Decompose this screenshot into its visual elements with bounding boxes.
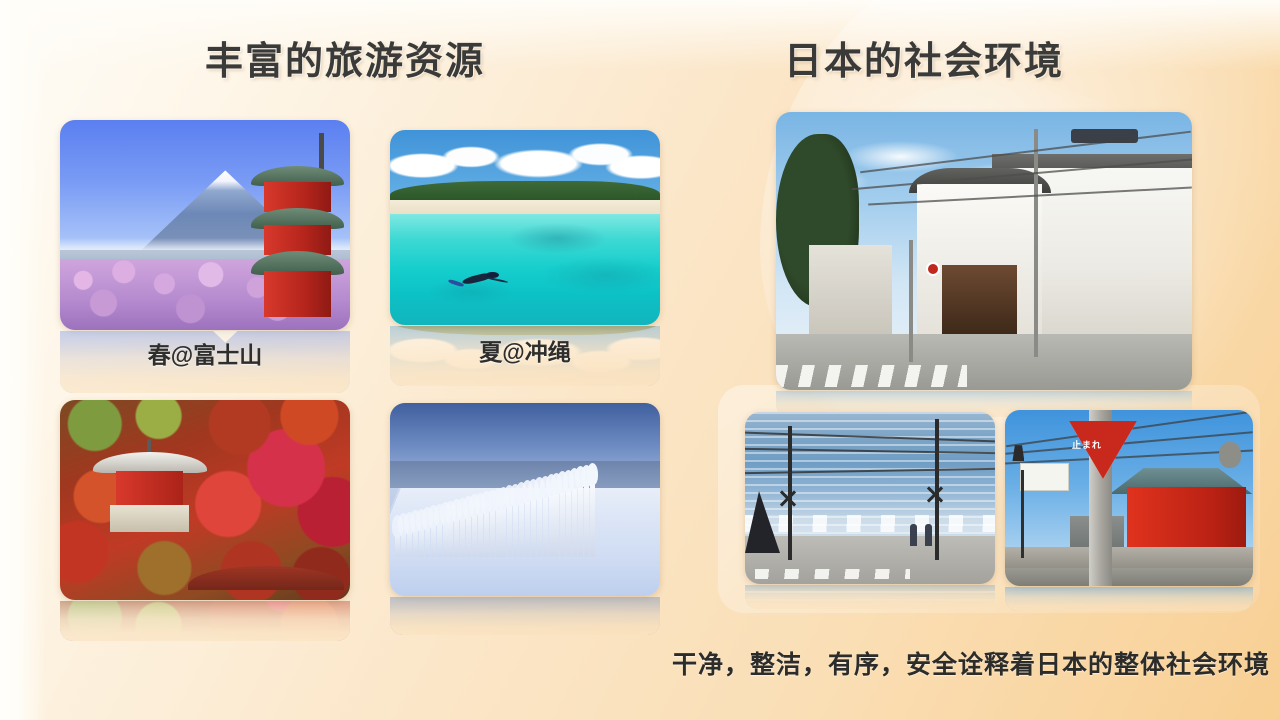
pedestrian-figure-2 (925, 524, 932, 546)
photo-spring-fuji (60, 120, 350, 330)
photo-summer-okinawa (390, 130, 660, 325)
railway-crossing-sign-icon-2 (925, 484, 945, 504)
photo-caption-spring: 春@富士山 (60, 336, 350, 370)
photo-card-autumn[interactable]: 秋@京都 (60, 400, 350, 641)
temple-pavilion-icon (101, 452, 200, 532)
pagoda-icon (251, 133, 344, 318)
photo-autumn-kyoto (60, 400, 350, 600)
stop-sign-label: 止まれ (1055, 438, 1119, 451)
photo-card-street[interactable] (776, 112, 1192, 417)
right-section-caption: 干净，整洁，有序，安全诠释着日本的整体社会环境 (672, 645, 1270, 681)
railway-crossing-sign-icon (778, 488, 798, 508)
scene-hokkaido-winter (390, 403, 660, 596)
photo-winter-hokkaido (390, 403, 660, 596)
photo-seaside-crossing (745, 412, 995, 584)
photo-reflection-stop (1005, 587, 1253, 611)
scene-okinawa-beach (390, 130, 660, 325)
photo-japanese-street (776, 112, 1192, 390)
photo-card-stop-sign[interactable]: 止まれ (1005, 410, 1253, 611)
traffic-light-icon (1071, 129, 1138, 143)
scene-japanese-street (776, 112, 1192, 390)
scene-kyoto-autumn (60, 400, 350, 600)
photo-reflection-autumn (60, 601, 350, 641)
no-entry-sign-icon (926, 262, 940, 276)
photo-reflection-winter (390, 597, 660, 635)
photo-card-winter[interactable]: 冬@北海道 (390, 403, 660, 635)
pedestrian-figure (910, 524, 917, 546)
scene-seaside-railway-crossing (745, 412, 995, 584)
white-notice-sign (1020, 463, 1070, 491)
photo-stop-sign-red-building: 止まれ (1005, 410, 1253, 586)
birch-trees (390, 469, 660, 558)
background-left-wash (0, 0, 46, 720)
photo-caption-summer: 夏@冲绳 (390, 333, 660, 367)
right-section-title: 日本的社会环境 (784, 30, 1064, 85)
scene-mount-fuji (60, 120, 350, 330)
photo-card-sea-crossing[interactable] (745, 412, 995, 609)
left-section-title: 丰富的旅游资源 (205, 30, 485, 85)
photo-card-spring[interactable]: 春@富士山 (60, 120, 350, 393)
round-sign-icon (1219, 442, 1241, 468)
slide-canvas: 丰富的旅游资源 日本的社会环境 (0, 0, 1280, 720)
scene-stop-sign-corner: 止まれ (1005, 410, 1253, 586)
snorkeler-icon (455, 270, 504, 290)
photo-reflection-sea (745, 585, 995, 609)
photo-card-summer[interactable]: 夏@冲绳 (390, 130, 660, 386)
